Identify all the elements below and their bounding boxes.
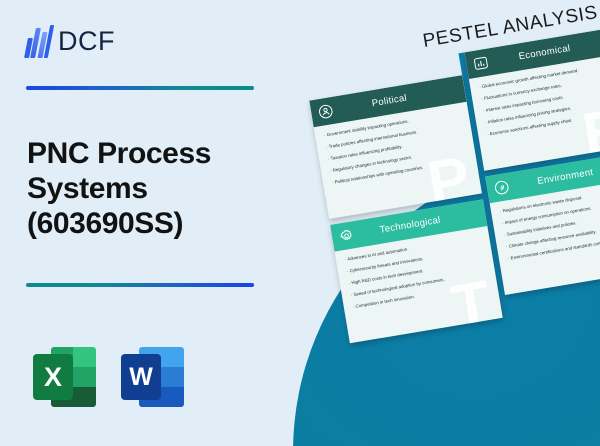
card-list-environment: Regulations on electronic waste disposal… (500, 187, 600, 261)
pestel-card-technological[interactable]: Technological T Advances in AI and autom… (330, 199, 503, 343)
left-panel: DCF PNC Process Systems (603690SS) X (0, 0, 300, 446)
word-file-icon[interactable]: W (121, 345, 184, 409)
word-letter: W (129, 365, 153, 390)
pestel-grid: Political P Government stability impacti… (306, 25, 600, 338)
brand-logo[interactable]: DCF (26, 24, 115, 58)
company-name-line-2: Systems (27, 171, 277, 206)
ticker-symbol: (603690SS) (27, 206, 277, 241)
excel-letter: X (44, 364, 62, 391)
poster-canvas: DCF PNC Process Systems (603690SS) X (0, 0, 600, 446)
pestel-card-economical[interactable]: Economical E Global economic growth affe… (464, 27, 600, 171)
pestel-board: PESTEL ANALYSIS Political P (300, 0, 600, 341)
excel-file-icon[interactable]: X (33, 345, 96, 409)
word-letter-tile: W (121, 354, 161, 400)
brand-name: DCF (58, 26, 115, 57)
pestel-card-environment[interactable]: Environment E Regulations on electronic … (485, 151, 600, 295)
excel-letter-tile: X (33, 354, 73, 400)
download-icons: X W (33, 345, 184, 409)
divider-top (26, 86, 254, 90)
dcf-bars-logo-icon (26, 24, 52, 58)
pestel-card-political[interactable]: Political P Government stability impacti… (309, 75, 482, 219)
divider-bottom (26, 283, 254, 287)
company-name-line-1: PNC Process (27, 136, 277, 171)
page-title: PNC Process Systems (603690SS) (27, 136, 277, 241)
